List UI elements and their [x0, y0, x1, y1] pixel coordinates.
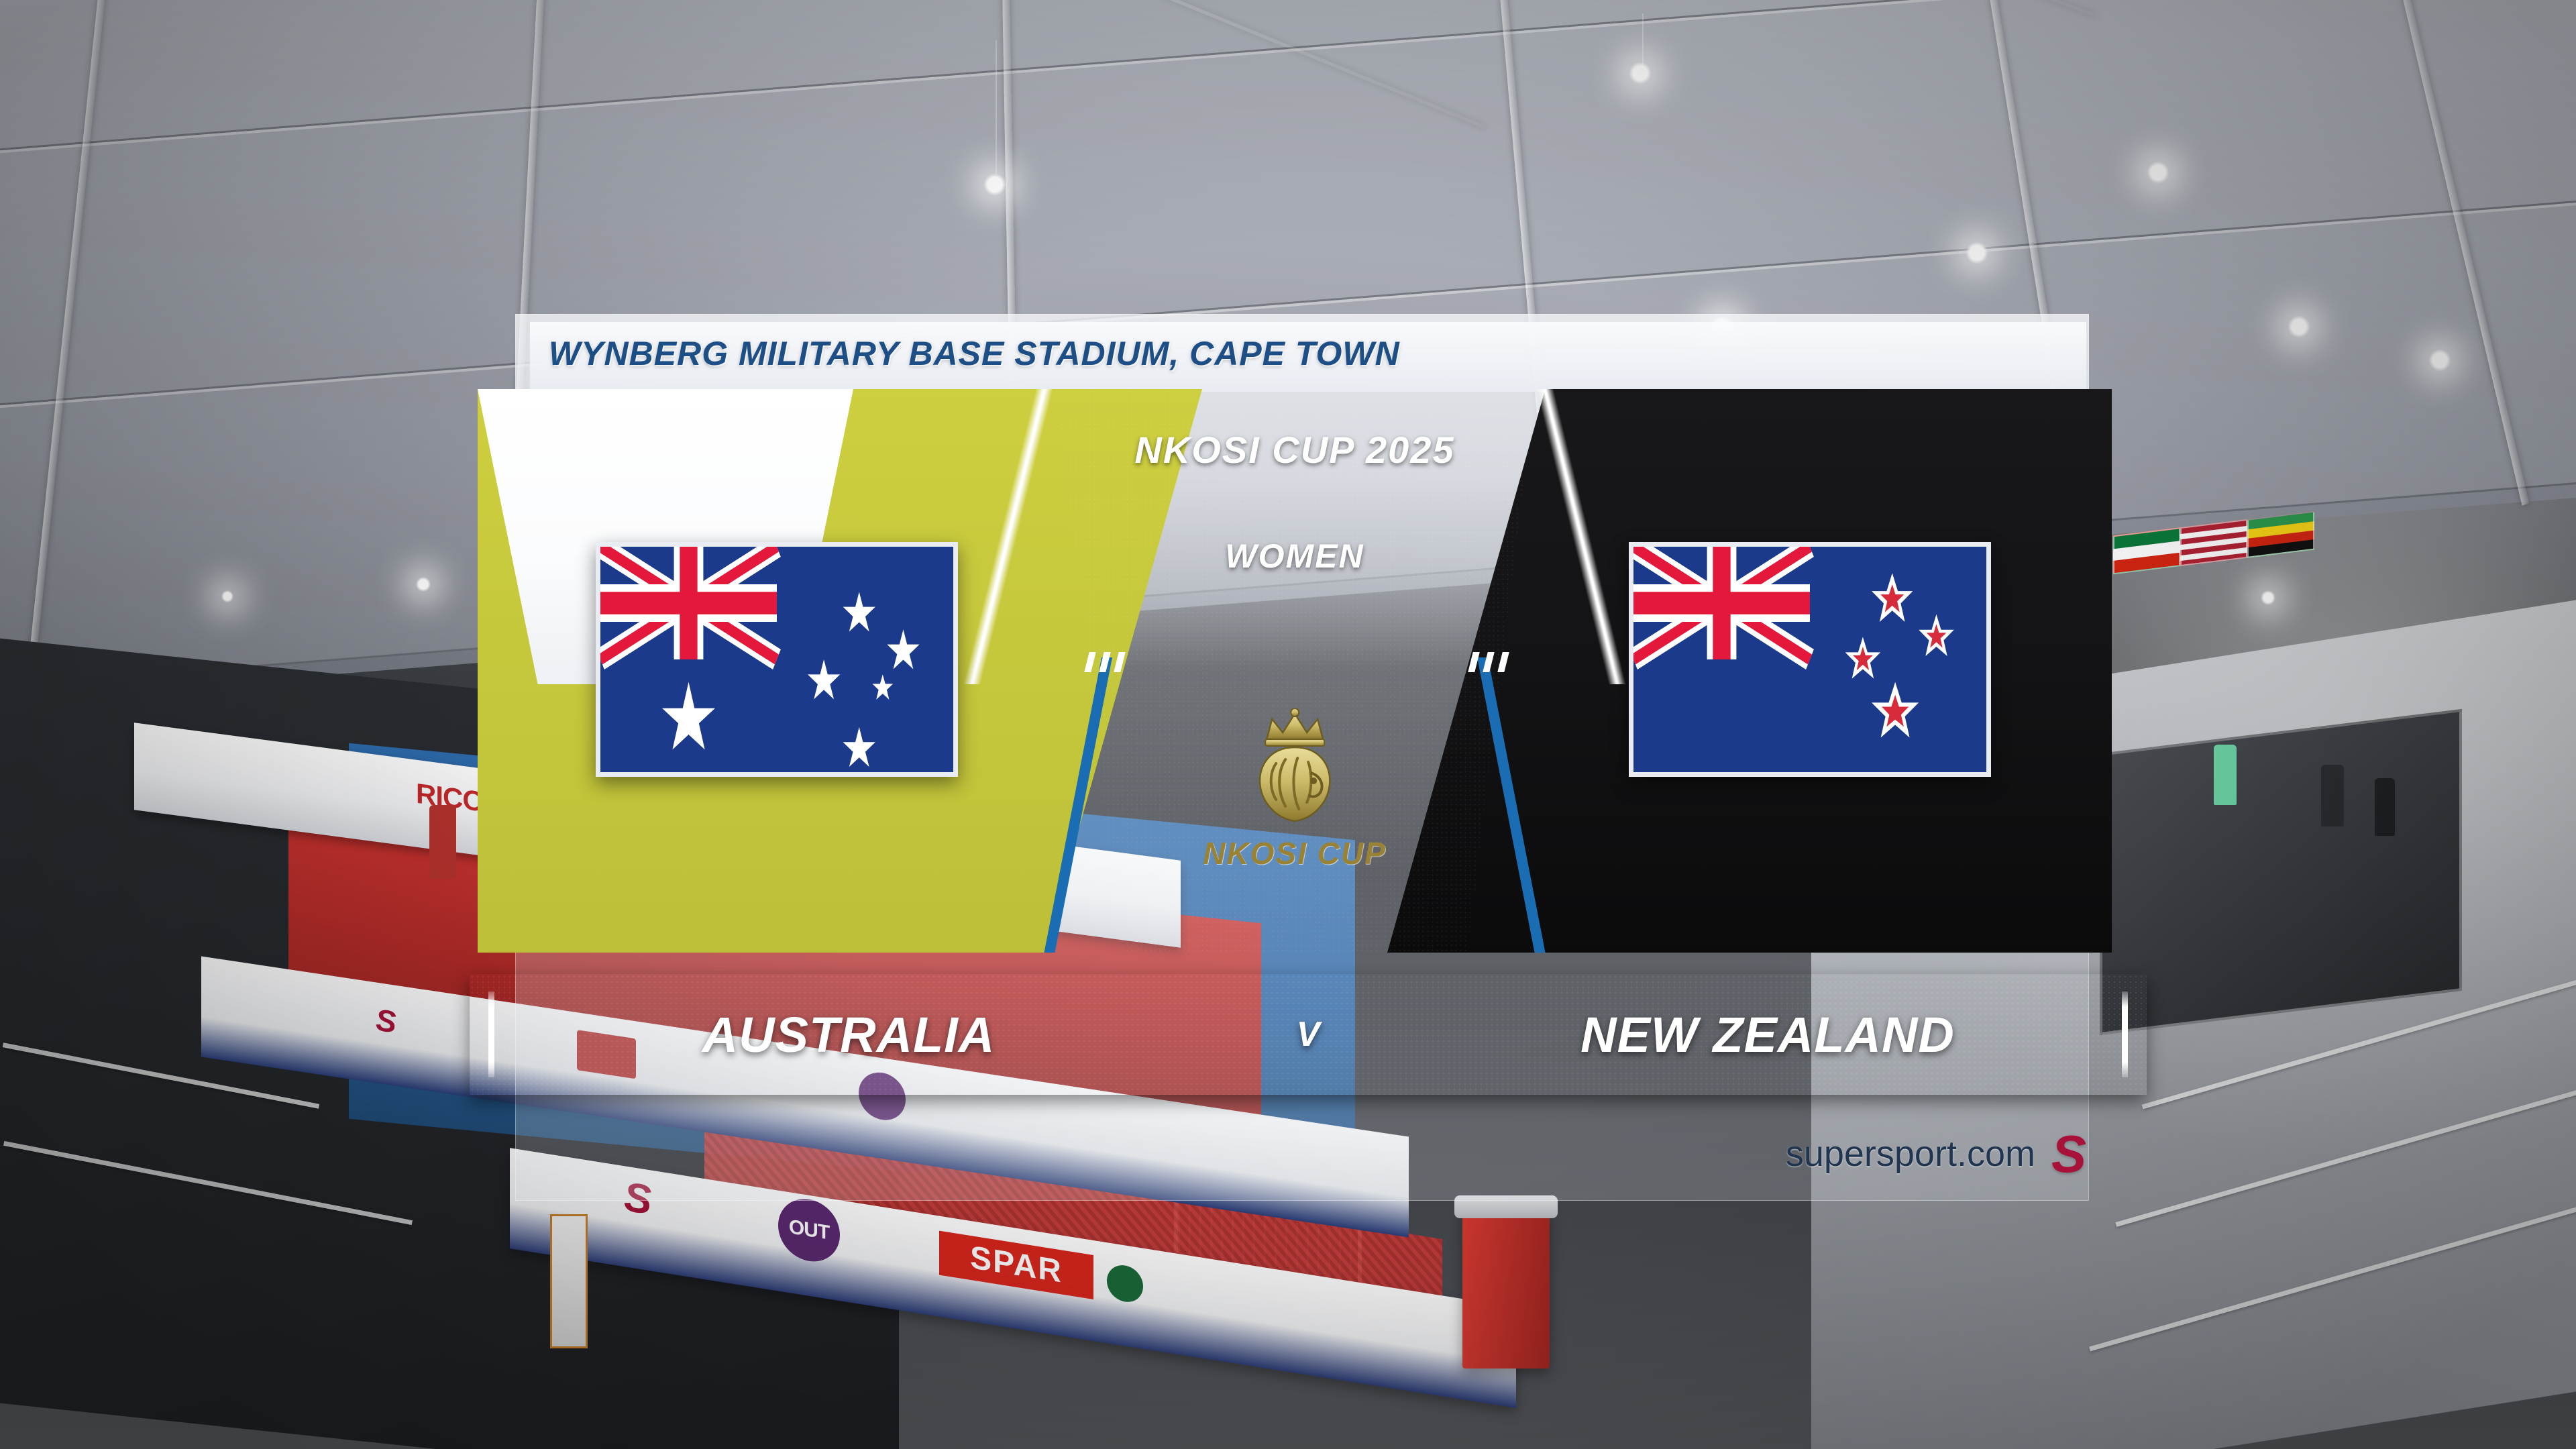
crowned-lion-head-icon	[1228, 708, 1362, 829]
team-chevron-block: NKOSI CUP 2025 WOMEN	[478, 389, 2112, 953]
home-team-name: AUSTRALIA	[470, 1006, 1228, 1063]
supersport-logo-icon: S	[2051, 1128, 2086, 1180]
left-notch-ticks	[1087, 652, 1123, 672]
division-label: WOMEN	[1055, 537, 1535, 576]
broadcast-screen: RICOH ●●● S S OUT SPAR	[0, 0, 2576, 1449]
venue-strip: WYNBERG MILITARY BASE STADIUM, CAPE TOWN	[530, 322, 2086, 392]
versus-label: V	[1228, 1014, 1389, 1055]
away-team-name: NEW ZEALAND	[1389, 1006, 2147, 1063]
broadcaster-footer: supersport.com S	[1670, 1114, 2086, 1194]
venue-label: WYNBERG MILITARY BASE STADIUM, CAPE TOWN	[549, 334, 1400, 373]
right-notch-ticks	[1470, 652, 1507, 672]
supersport-url[interactable]: supersport.com	[1786, 1133, 2035, 1175]
australia-flag	[596, 542, 958, 777]
new-zealand-flag	[1629, 542, 1991, 777]
logo-wordmark: NKOSI CUP	[1203, 835, 1387, 871]
nkosi-cup-logo: NKOSI CUP	[1203, 708, 1387, 871]
broadcast-overlay: WYNBERG MILITARY BASE STADIUM, CAPE TOWN…	[0, 0, 2576, 1449]
matchup-banner: AUSTRALIA V NEW ZEALAND	[470, 974, 2147, 1095]
competition-title: NKOSI CUP 2025	[1055, 428, 1535, 472]
